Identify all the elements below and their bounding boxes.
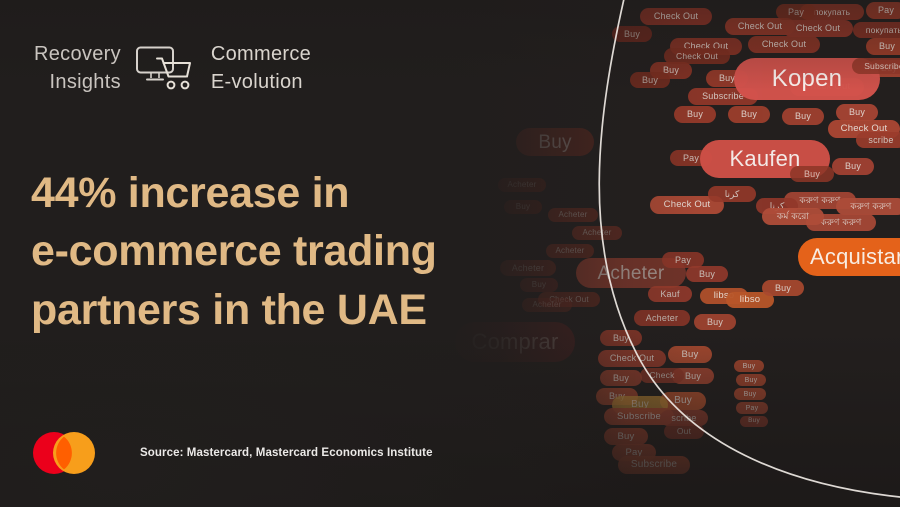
word-cloud-pill: Buy (736, 374, 766, 386)
word-cloud-pill: Buy (790, 166, 834, 182)
word-cloud-pill: কর্ম করো (762, 208, 824, 225)
word-cloud-pill: Buy (674, 106, 716, 123)
brand-right-line2: E-volution (211, 68, 311, 96)
word-cloud-pill: Buy (668, 346, 712, 363)
word-cloud-pill: Check Out (664, 48, 730, 64)
word-cloud-pill: Check Out (598, 350, 666, 367)
word-cloud-pill: Comprar (455, 322, 575, 362)
word-cloud-pill: Pay (866, 2, 900, 19)
footer: Source: Mastercard, Mastercard Economics… (30, 427, 433, 479)
recovery-insights-wordmark: Recovery Insights (34, 40, 121, 97)
slide-canvas: Check OutPayпокупатьCheck OutCheck Outпо… (0, 0, 900, 507)
word-cloud-pill: Buy (836, 104, 878, 121)
headline-line-1: 44% increase in (31, 164, 437, 222)
word-cloud-pill: Kauf (648, 286, 692, 302)
headline-line-3: partners in the UAE (31, 281, 437, 339)
word-cloud-pill: покупать (853, 22, 900, 38)
word-cloud-pill: کرنا (708, 186, 756, 202)
word-cloud-pill: Buy (734, 388, 766, 400)
word-cloud-pill: Buy (866, 38, 900, 55)
word-cloud-pill: Check Out (640, 8, 712, 25)
word-cloud-pill: Check (640, 368, 684, 383)
word-cloud-pill: Buy (740, 416, 768, 427)
word-cloud-pill: Buy (504, 200, 542, 214)
word-cloud-pill: Buy (728, 106, 770, 123)
word-cloud-pill: Acquistare (798, 238, 900, 276)
word-cloud-pill: Acheter (500, 260, 556, 276)
word-cloud-pill: Buy (782, 108, 824, 125)
brand-left-line1: Recovery (34, 40, 121, 68)
word-cloud-pill: Check Out (748, 36, 820, 53)
brand-left-line2: Insights (34, 68, 121, 96)
word-cloud-pill: scribe (856, 132, 900, 148)
word-cloud-pill: Buy (612, 26, 652, 42)
word-cloud-pill: Buy (516, 128, 594, 156)
monitor-cart-icon (135, 45, 197, 91)
word-cloud-pill: Buy (600, 370, 642, 386)
word-cloud-pill: Acheter (522, 298, 572, 312)
page-title: 44% increase in e-commerce trading partn… (31, 164, 437, 339)
word-cloud-pill: Buy (630, 72, 670, 88)
headline-line-2: e-commerce trading (31, 222, 437, 280)
word-cloud-pill: Acheter (634, 310, 690, 326)
word-cloud-pill: Pay (736, 402, 768, 414)
word-cloud-pill: Acheter (572, 226, 622, 240)
word-cloud-pill: Pay (776, 4, 816, 20)
brand-lockup: Recovery Insights Commerce E-volution (34, 40, 311, 97)
word-cloud-pill: Buy (734, 360, 764, 372)
mastercard-logo (30, 427, 98, 479)
word-cloud-pill: Out (664, 424, 704, 439)
word-cloud-pill: Buy (600, 330, 642, 346)
word-cloud-pill: করুণ করুণ (836, 198, 900, 215)
brand-right-line1: Commerce (211, 40, 311, 68)
word-cloud-pill: Buy (604, 428, 648, 445)
word-cloud-pill: Acheter (546, 244, 594, 258)
word-cloud-pill: Acheter (548, 208, 598, 222)
word-cloud-pill: Buy (694, 314, 736, 330)
commerce-evolution-wordmark: Commerce E-volution (211, 40, 311, 97)
word-cloud-pill: Check Out (783, 20, 853, 37)
word-cloud-pill: Buy (686, 266, 728, 282)
word-cloud-pill: Acheter (498, 178, 546, 192)
source-attribution: Source: Mastercard, Mastercard Economics… (140, 447, 433, 459)
word-cloud-pill: Subscribe (852, 58, 900, 74)
word-cloud-pill: Buy (832, 158, 874, 175)
word-cloud-pill: Buy (520, 278, 558, 292)
word-cloud-pill: Subscribe (618, 456, 690, 474)
word-cloud-pill: Buy (762, 280, 804, 296)
